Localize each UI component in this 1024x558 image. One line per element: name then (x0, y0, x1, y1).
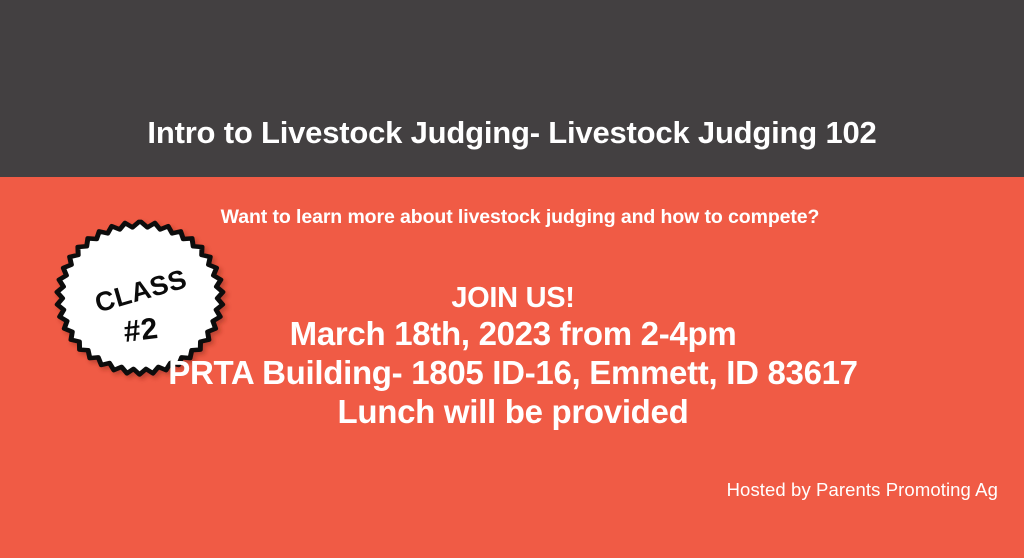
page-title: Intro to Livestock Judging- Livestock Ju… (0, 116, 1024, 150)
event-line-date-time: March 18th, 2023 from 2-4pm (0, 315, 1024, 354)
event-line-location: PRTA Building- 1805 ID-16, Emmett, ID 83… (0, 354, 1024, 393)
event-details: JOIN US! March 18th, 2023 from 2-4pm PRT… (0, 281, 1024, 432)
header-band: Intro to Livestock Judging- Livestock Ju… (0, 0, 1024, 177)
event-line-lunch: Lunch will be provided (0, 393, 1024, 432)
event-line-join-us: JOIN US! (0, 281, 1024, 315)
body-area: Want to learn more about livestock judgi… (0, 177, 1024, 558)
flyer-canvas: Intro to Livestock Judging- Livestock Ju… (0, 0, 1024, 558)
hosted-by-label: Hosted by Parents Promoting Ag (727, 479, 998, 501)
